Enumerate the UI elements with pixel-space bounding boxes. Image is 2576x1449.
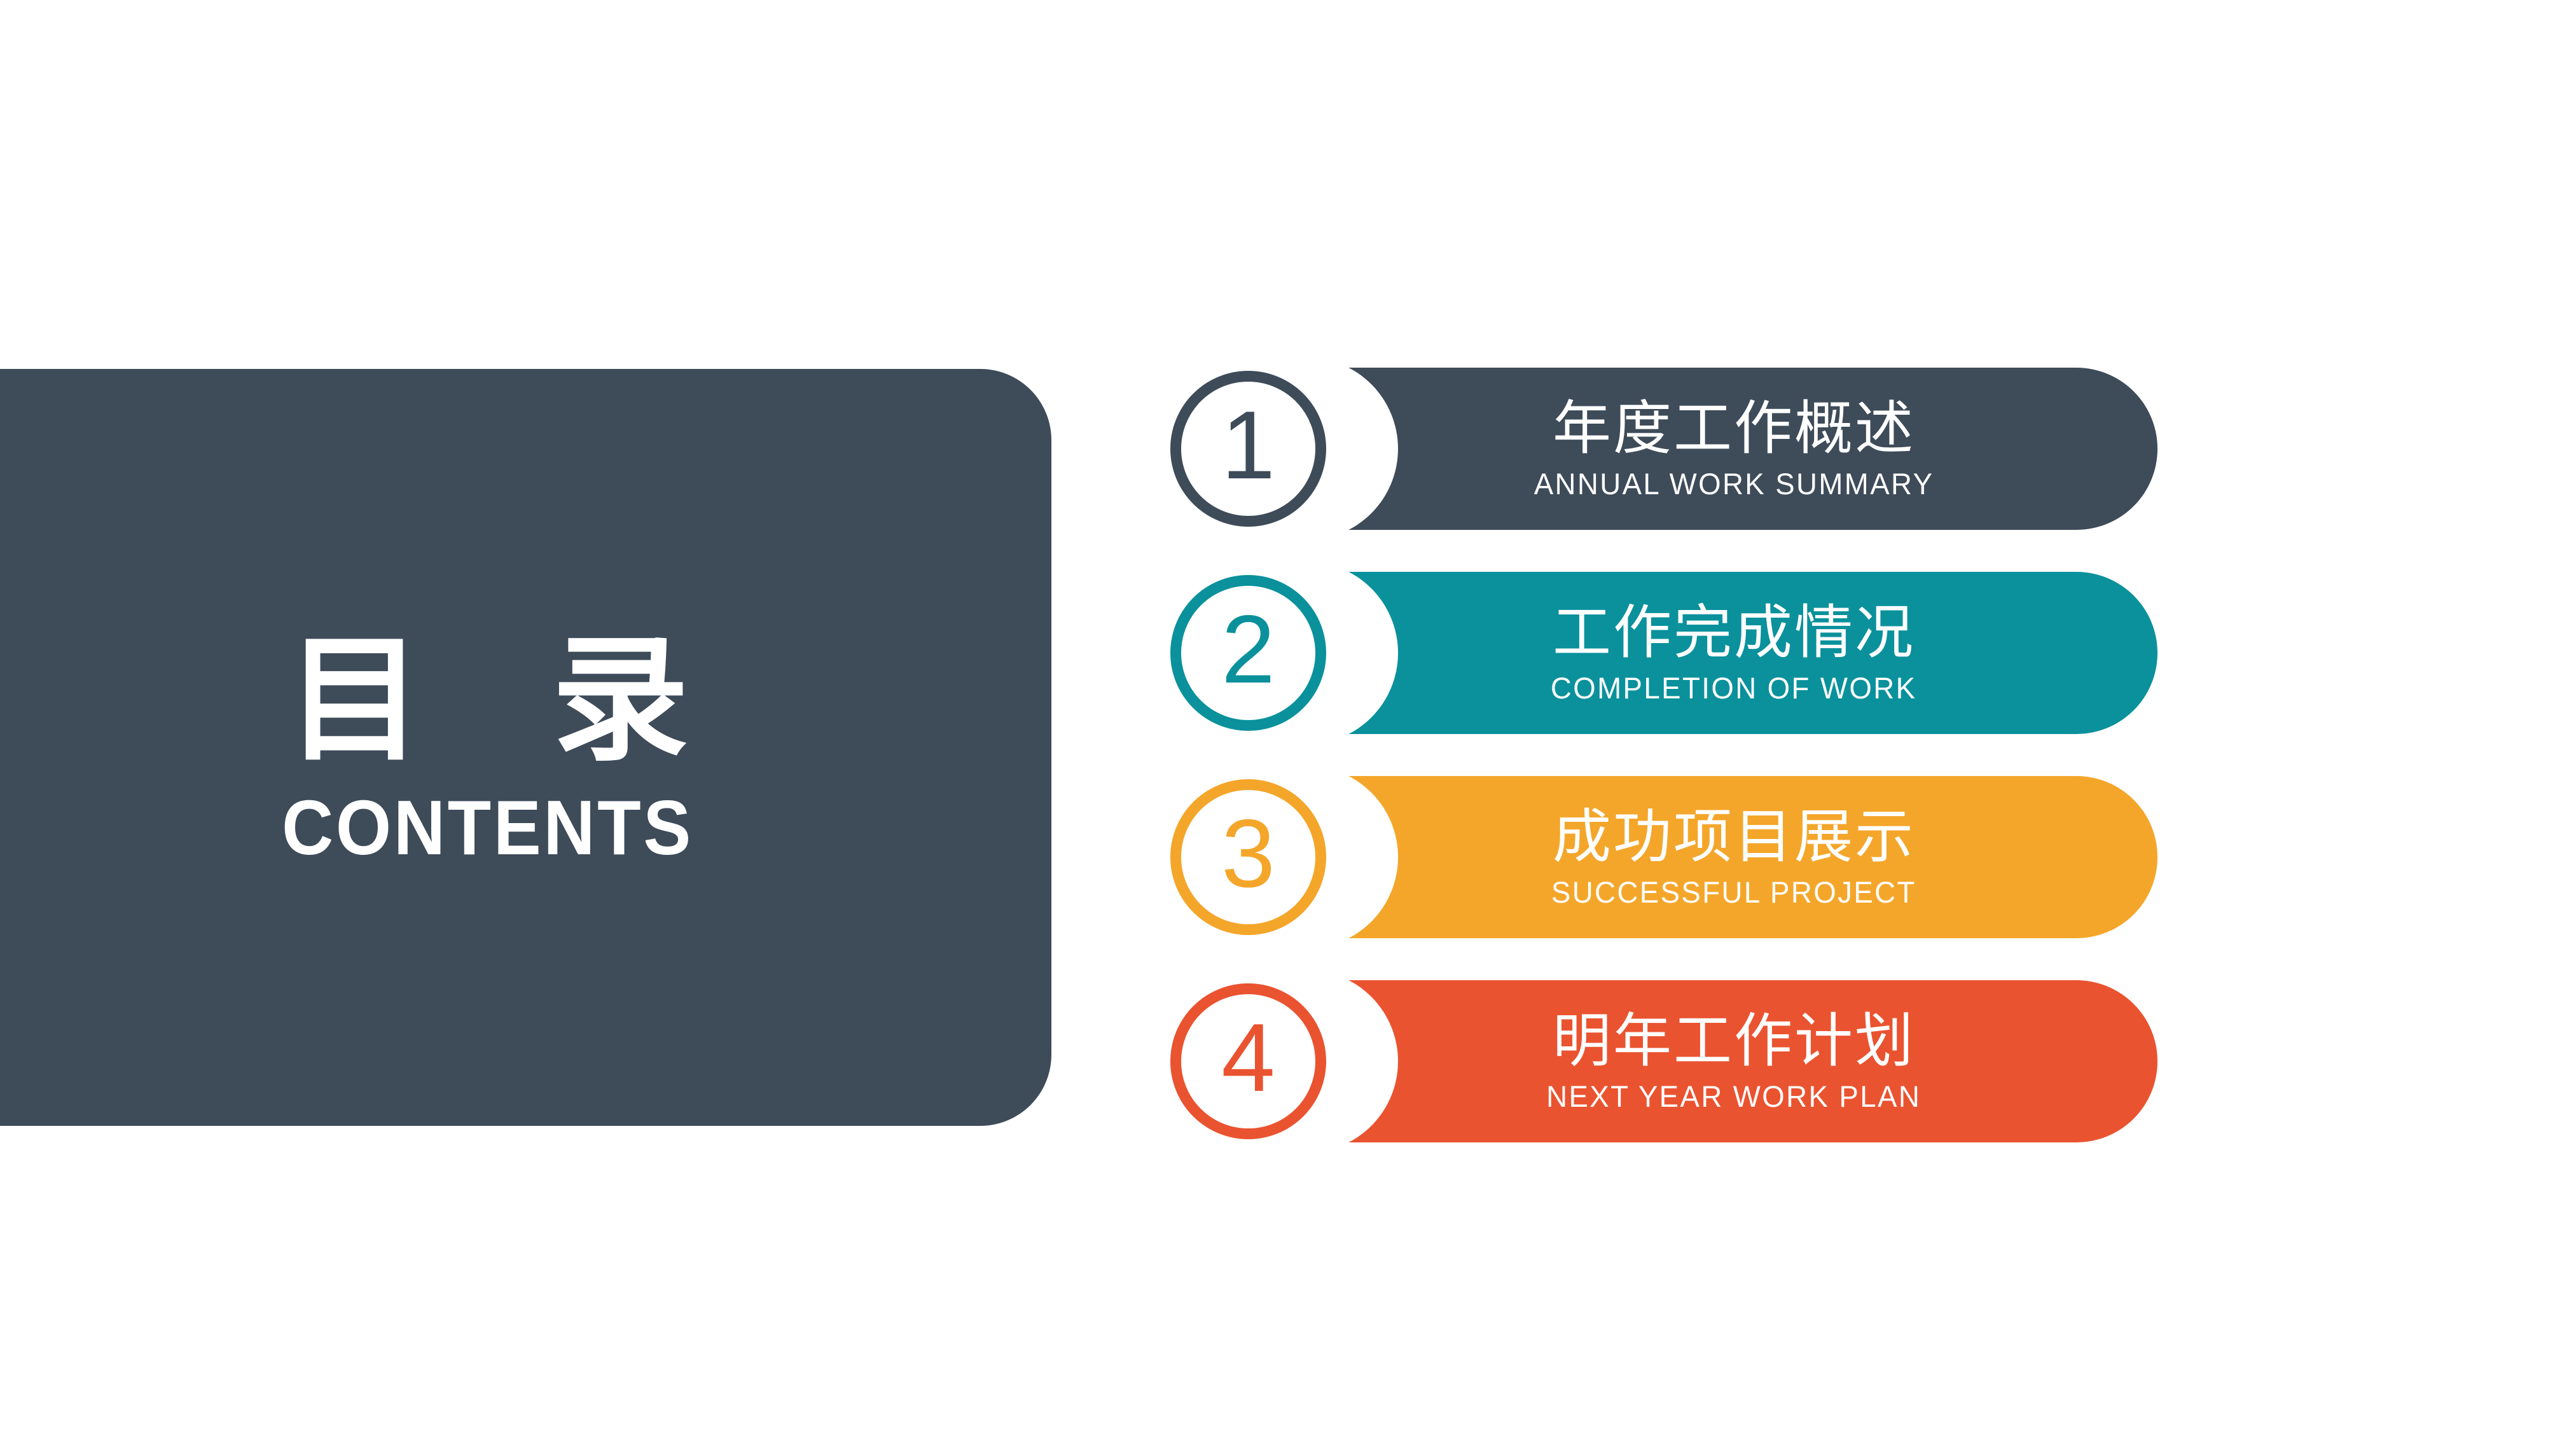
- toc-item-1-badge[interactable]: 1: [1170, 371, 1326, 527]
- toc-item-1-title-cn: 年度工作概述: [1553, 399, 1915, 458]
- toc-item-2-number: 2: [1221, 601, 1275, 698]
- page-title-en: CONTENTS: [282, 789, 693, 866]
- toc-item-2[interactable]: 工作完成情况 COMPLETION OF WORK 2: [1170, 572, 2163, 734]
- toc-item-3[interactable]: 成功项目展示 SUCCESSFUL PROJECT 3: [1170, 776, 2163, 938]
- slide-canvas: 目 录 CONTENTS 年度工作概述 ANNUAL WORK SUMMARY …: [0, 0, 2576, 1449]
- contents-panel: 目 录 CONTENTS: [0, 369, 1051, 1126]
- toc-item-3-title-cn: 成功项目展示: [1553, 808, 1915, 866]
- contents-panel-inner: 目 录 CONTENTS: [0, 369, 975, 1126]
- toc-list: 年度工作概述 ANNUAL WORK SUMMARY 1 工作完成情况 COMP…: [1170, 368, 2163, 1137]
- toc-item-4-title-en: NEXT YEAR WORK PLAN: [1546, 1081, 1921, 1111]
- toc-item-3-title-en: SUCCESSFUL PROJECT: [1551, 877, 1916, 907]
- toc-item-3-number: 3: [1221, 805, 1275, 902]
- toc-item-1-bar[interactable]: 年度工作概述 ANNUAL WORK SUMMARY: [1310, 368, 2157, 530]
- toc-item-3-bar[interactable]: 成功项目展示 SUCCESSFUL PROJECT: [1310, 776, 2157, 938]
- toc-item-2-title-cn: 工作完成情况: [1553, 604, 1915, 662]
- toc-item-2-title-en: COMPLETION OF WORK: [1551, 673, 1917, 703]
- page-title-cn: 目 录: [246, 628, 730, 772]
- toc-item-2-bar[interactable]: 工作完成情况 COMPLETION OF WORK: [1310, 572, 2157, 734]
- toc-item-1[interactable]: 年度工作概述 ANNUAL WORK SUMMARY 1: [1170, 368, 2163, 530]
- toc-item-4-badge[interactable]: 4: [1170, 983, 1326, 1139]
- toc-item-4-title-cn: 明年工作计划: [1553, 1012, 1915, 1071]
- toc-item-1-number: 1: [1221, 397, 1275, 494]
- toc-item-4-bar[interactable]: 明年工作计划 NEXT YEAR WORK PLAN: [1310, 980, 2157, 1142]
- toc-item-1-title-en: ANNUAL WORK SUMMARY: [1534, 469, 1934, 499]
- toc-item-4-number: 4: [1221, 1009, 1275, 1106]
- toc-item-2-badge[interactable]: 2: [1170, 575, 1326, 731]
- toc-item-3-badge[interactable]: 3: [1170, 779, 1326, 935]
- toc-item-4[interactable]: 明年工作计划 NEXT YEAR WORK PLAN 4: [1170, 980, 2163, 1142]
